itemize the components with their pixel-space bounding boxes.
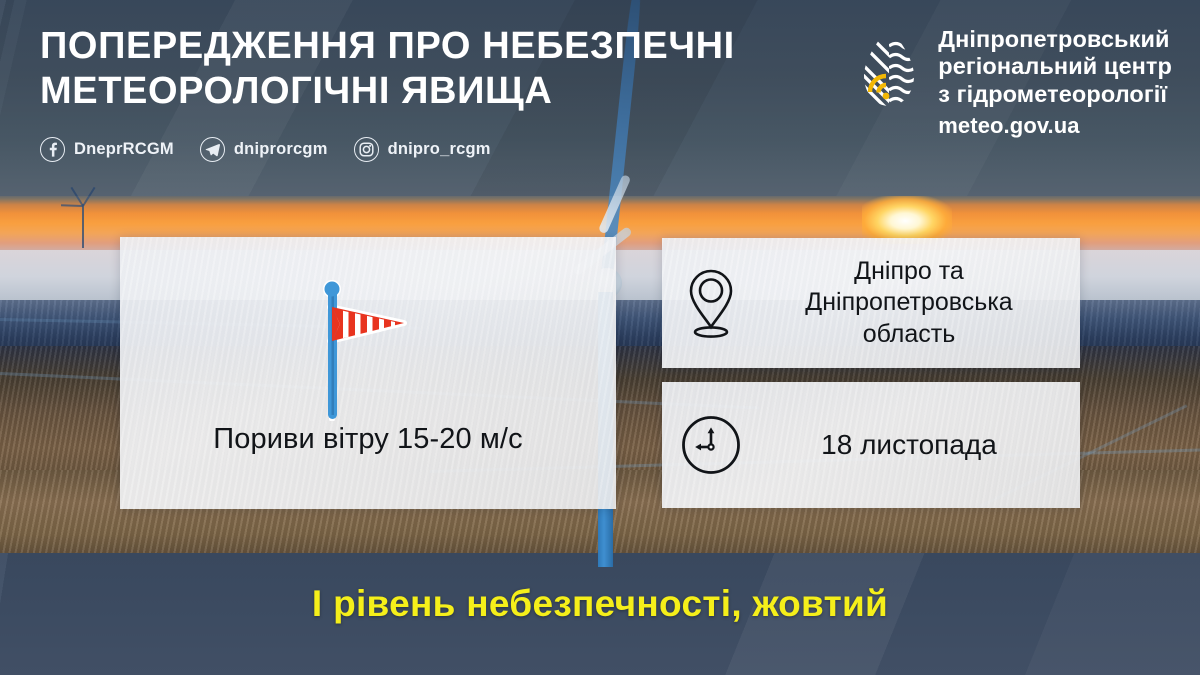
region-info-card: Дніпро та Дніпропетровська область bbox=[662, 238, 1080, 368]
social-link-facebook[interactable]: DneprRCGM bbox=[40, 137, 174, 162]
social-link-instagram[interactable]: dnipro_rcgm bbox=[354, 137, 491, 162]
telegram-icon bbox=[200, 137, 225, 162]
page-title-line2: МЕТЕОРОЛОГІЧНІ ЯВИЩА bbox=[40, 69, 770, 114]
wind-description: Пориви вітру 15-20 м/с bbox=[120, 423, 616, 456]
hydrometeorology-leaf-logo-icon bbox=[856, 26, 922, 115]
social-handle-facebook: DneprRCGM bbox=[74, 140, 174, 159]
infographic-canvas: ПОПЕРЕДЖЕННЯ ПРО НЕБЕЗПЕЧНІ МЕТЕОРОЛОГІЧ… bbox=[0, 0, 1200, 675]
organization-website[interactable]: meteo.gov.ua bbox=[938, 113, 1172, 139]
sun-glow bbox=[862, 196, 952, 244]
date-info-card: 18 листопада bbox=[662, 382, 1080, 508]
organization-text: Дніпропетровський регіональний центр з г… bbox=[938, 26, 1172, 139]
instagram-icon bbox=[354, 137, 379, 162]
organization-name-line2: регіональний центр bbox=[938, 53, 1172, 80]
map-pin-icon bbox=[680, 267, 742, 339]
distant-wind-turbine bbox=[82, 204, 84, 248]
page-title: ПОПЕРЕДЖЕННЯ ПРО НЕБЕЗПЕЧНІ МЕТЕОРОЛОГІЧ… bbox=[40, 24, 770, 114]
header: ПОПЕРЕДЖЕННЯ ПРО НЕБЕЗПЕЧНІ МЕТЕОРОЛОГІЧ… bbox=[0, 0, 1200, 196]
social-handle-instagram: dnipro_rcgm bbox=[388, 140, 491, 159]
wind-pennant-flag-icon bbox=[308, 271, 428, 426]
date-description: 18 листопада bbox=[762, 427, 1062, 462]
region-description: Дніпро та Дніпропетровська область bbox=[762, 256, 1062, 351]
page-title-line1: ПОПЕРЕДЖЕННЯ ПРО НЕБЕЗПЕЧНІ bbox=[40, 24, 770, 69]
organization-name: Дніпропетровський регіональний центр з г… bbox=[938, 26, 1172, 108]
clock-icon bbox=[680, 414, 742, 476]
facebook-icon bbox=[40, 137, 65, 162]
region-line1: Дніпро та bbox=[762, 256, 1056, 288]
danger-level-text: І рівень небезпечності, жовтий bbox=[0, 583, 1200, 625]
social-handle-telegram: dniprorcgm bbox=[234, 140, 328, 159]
social-link-telegram[interactable]: dniprorcgm bbox=[200, 137, 328, 162]
wind-info-card: Пориви вітру 15-20 м/с bbox=[120, 237, 616, 509]
organization-name-line3: з гідрометеорології bbox=[938, 81, 1172, 108]
region-line2: Дніпропетровська область bbox=[762, 287, 1056, 350]
social-links: DneprRCGM dniprorcgm d bbox=[40, 137, 491, 162]
organization-block: Дніпропетровський регіональний центр з г… bbox=[856, 26, 1172, 139]
organization-name-line1: Дніпропетровський bbox=[938, 26, 1172, 53]
